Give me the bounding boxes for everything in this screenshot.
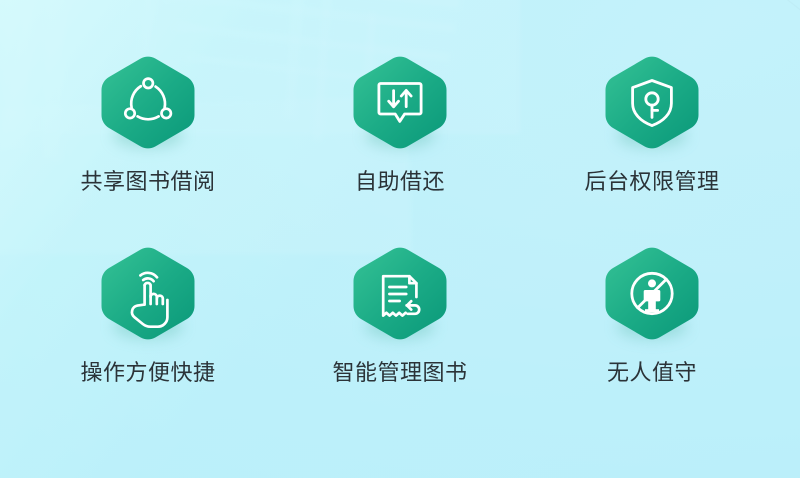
feature-label: 操作方便快捷 [80,363,215,385]
tap-hand-icon [99,247,197,340]
feature-item-smart-book-management[interactable]: 智能管理图书 [274,247,526,438]
feature-item-self-service-borrow-return[interactable]: 自助借还 [274,56,526,247]
feature-label: 共享图书借阅 [80,172,215,194]
hex-tile[interactable] [99,247,197,340]
feature-label: 自助借还 [355,172,445,194]
feature-item-backend-permission-management[interactable]: 后台权限管理 [526,56,778,247]
feature-item-unattended[interactable]: 无人值守 [526,247,778,438]
borrow-return-arrows-icon [351,56,449,149]
no-person-icon [603,247,701,340]
features-grid: 共享图书借阅 [0,0,800,478]
document-sync-icon [351,247,449,340]
hex-tile[interactable] [351,247,449,340]
feature-label: 无人值守 [607,363,697,385]
feature-item-shared-book-borrowing[interactable]: 共享图书借阅 [22,56,274,247]
feature-label: 后台权限管理 [584,172,719,194]
feature-item-easy-convenient-operation[interactable]: 操作方便快捷 [22,247,274,438]
share-network-icon [99,56,197,149]
hex-tile[interactable] [351,56,449,149]
hex-tile[interactable] [603,56,701,149]
hex-tile[interactable] [99,56,197,149]
hex-tile[interactable] [603,247,701,340]
shield-key-icon [603,56,701,149]
feature-label: 智能管理图书 [332,363,467,385]
